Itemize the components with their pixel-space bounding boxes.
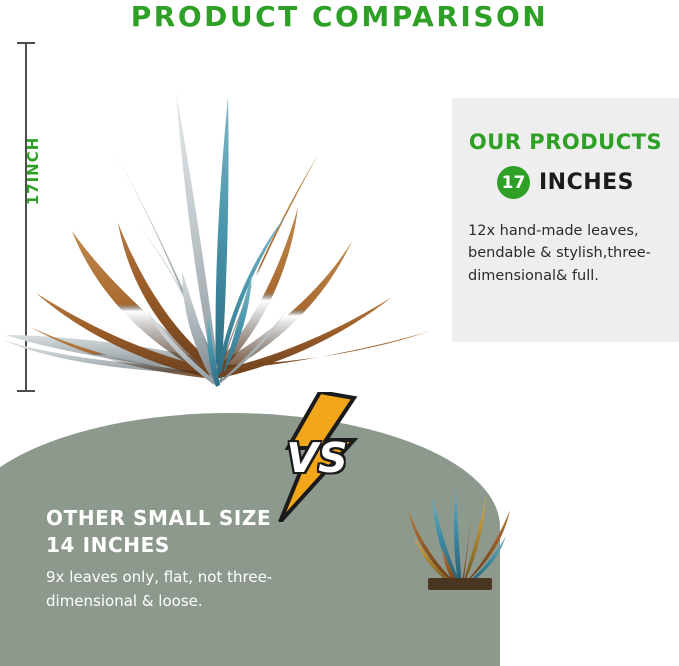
size-badge-unit: INCHES bbox=[539, 170, 634, 195]
small-plant-svg bbox=[370, 470, 550, 590]
small-plant-image bbox=[370, 470, 550, 590]
size-badge-number: 17 bbox=[497, 166, 530, 199]
our-products-description: 12x hand-made leaves, bendable & stylish… bbox=[468, 220, 668, 287]
other-product-description: 9x leaves only, flat, not three-dimensio… bbox=[46, 565, 296, 614]
other-product-title: OTHER SMALL SIZE 14 INCHES bbox=[46, 505, 306, 559]
large-plant-image bbox=[0, 35, 430, 405]
our-products-card: OUR PRODUCTS 17 INCHES 12x hand-made lea… bbox=[452, 98, 679, 342]
our-products-heading: OUR PRODUCTS bbox=[452, 130, 679, 154]
size-badge-row: 17 INCHES bbox=[452, 166, 679, 199]
versus-label: VS bbox=[262, 434, 372, 482]
versus-badge: VS bbox=[262, 392, 372, 522]
product-comparison-infographic: PRODUCT COMPARISON 17INCH bbox=[0, 0, 679, 666]
large-plant-svg bbox=[0, 35, 430, 405]
page-title: PRODUCT COMPARISON bbox=[0, 0, 679, 33]
